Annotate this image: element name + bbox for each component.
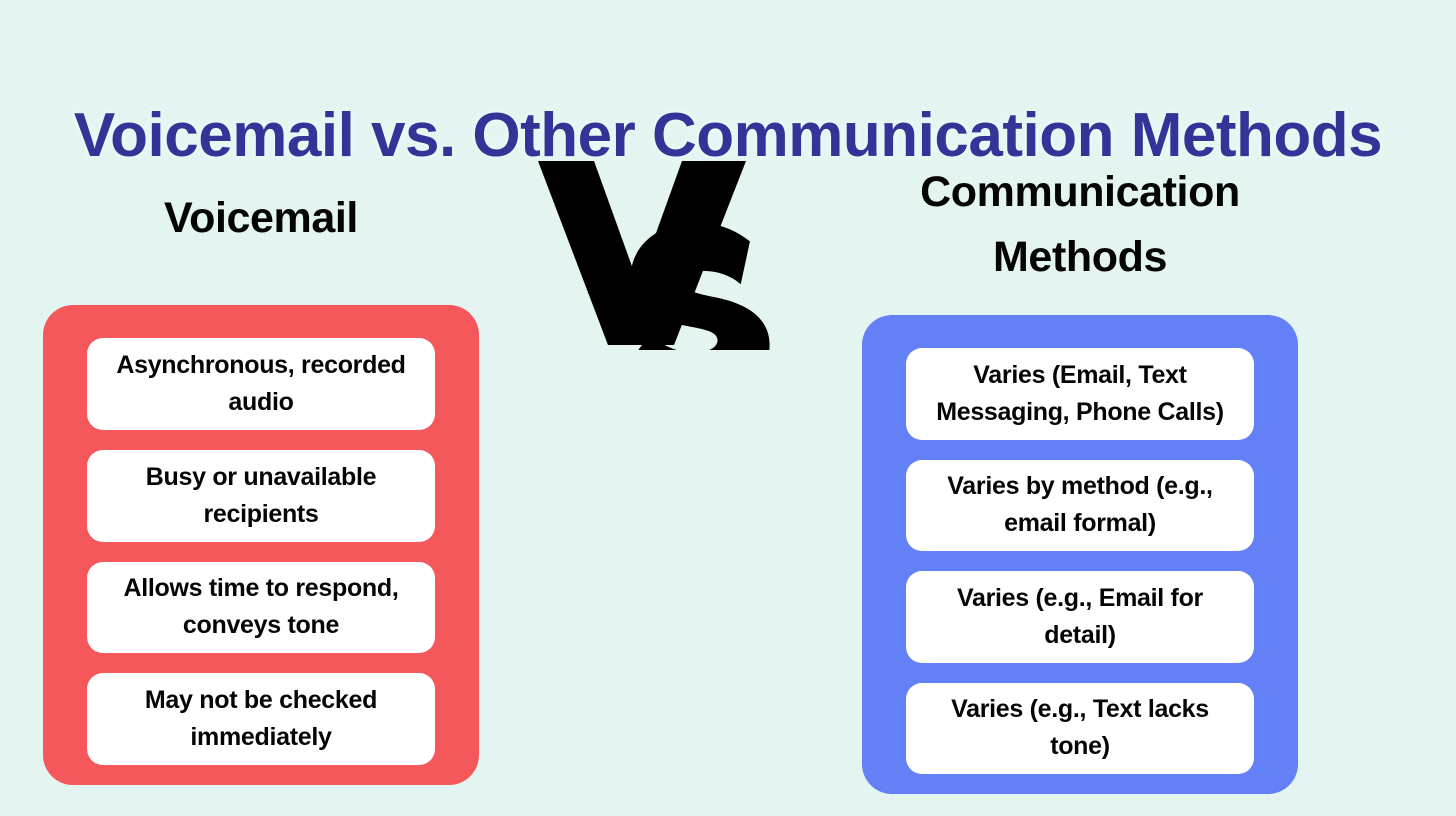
card-voicemail: Asynchronous, recorded audio Busy or una… — [43, 305, 479, 785]
list-item: Asynchronous, recorded audio — [87, 338, 435, 430]
list-item: Varies by method (e.g., email formal) — [906, 460, 1254, 552]
column-heading-communication-methods: Communication Methods — [862, 160, 1298, 290]
card-communication-methods: Varies (Email, Text Messaging, Phone Cal… — [862, 315, 1298, 794]
list-item: Varies (e.g., Email for detail) — [906, 571, 1254, 663]
list-item: Varies (Email, Text Messaging, Phone Cal… — [906, 348, 1254, 440]
list-item: May not be checked immediately — [87, 673, 435, 765]
infographic-canvas: Voicemail vs. Other Communication Method… — [0, 0, 1456, 816]
versus-icon — [532, 155, 780, 350]
list-item: Varies (e.g., Text lacks tone) — [906, 683, 1254, 775]
list-item: Busy or unavailable recipients — [87, 450, 435, 542]
column-heading-voicemail: Voicemail — [43, 186, 479, 251]
list-item: Allows time to respond, conveys tone — [87, 562, 435, 654]
